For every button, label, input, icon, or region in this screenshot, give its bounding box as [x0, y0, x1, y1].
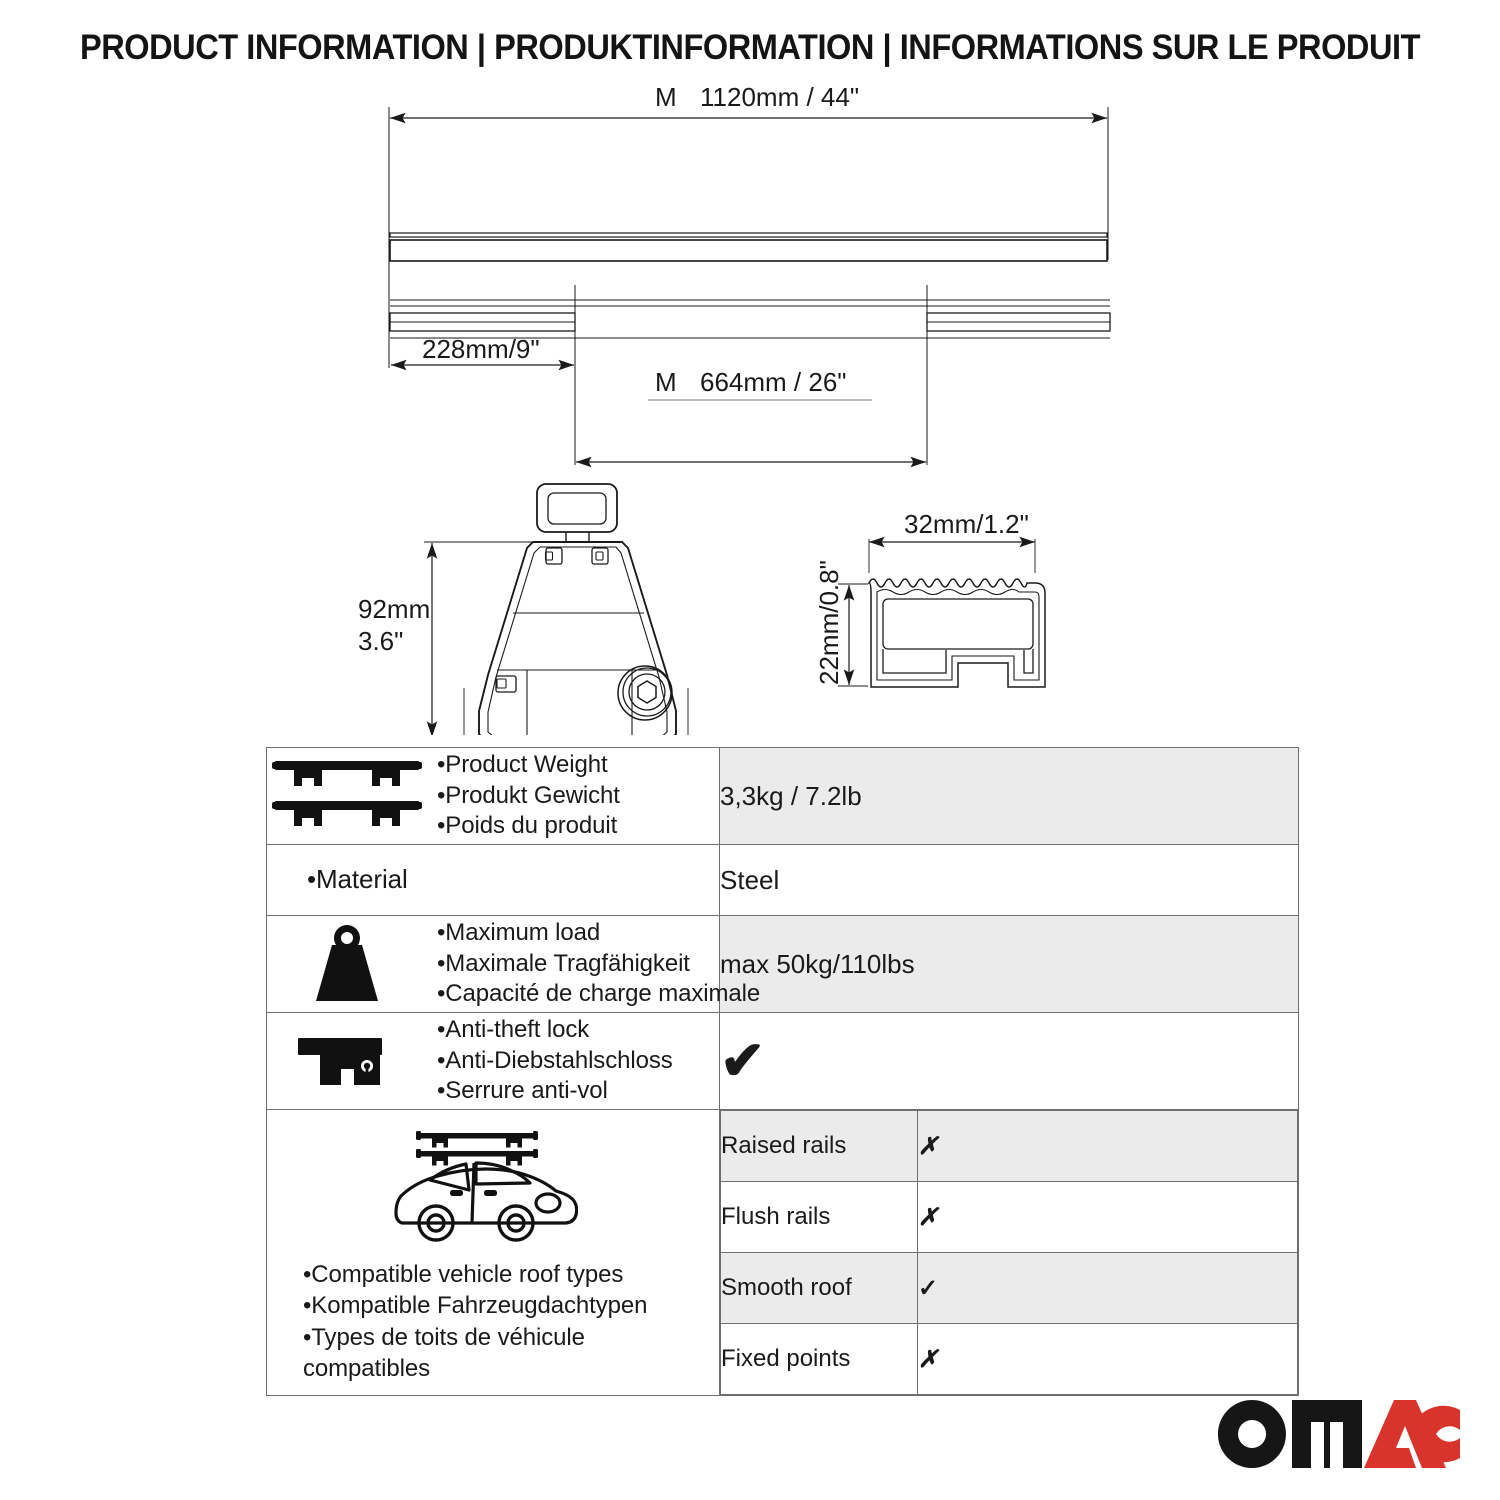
roof-option-mark: ✗ — [918, 1324, 1298, 1395]
dim-foot-spacing-value: 664mm / 26" — [700, 367, 847, 397]
specification-table: •Product Weight •Produkt Gewicht •Poids … — [266, 747, 1299, 1396]
page-title: PRODUCT INFORMATION | PRODUKTINFORMATION… — [53, 28, 1448, 68]
label-cell-roof-compatibility: •Compatible vehicle roof types •Kompatib… — [267, 1110, 720, 1396]
logo-letter-m — [1292, 1400, 1362, 1468]
label-line: •Produkt Gewicht — [437, 781, 620, 812]
dim-foot-spacing-prefix: M — [655, 367, 677, 397]
roof-option-raised-rails: Raised rails ✗ — [721, 1111, 1298, 1182]
roof-type-grid: Raised rails ✗ Flush rails ✗ Smooth roof… — [720, 1110, 1298, 1395]
label-line: •Kompatible Fahrzeugdachtypen — [303, 1290, 719, 1321]
label-line: compatibles — [303, 1353, 719, 1384]
roof-option-name: Fixed points — [721, 1324, 918, 1395]
table-row-anti-theft-lock: •Anti-theft lock •Anti-Diebstahlschloss … — [267, 1013, 1299, 1110]
roof-option-name: Smooth roof — [721, 1253, 918, 1324]
label-cell-material: •Material — [267, 845, 720, 916]
car-with-roofrack-icon — [267, 1121, 719, 1247]
dim-end-offset: 228mm/9" — [422, 334, 540, 364]
roof-option-name: Raised rails — [721, 1111, 918, 1182]
dim-profile-height: 22mm/0.8" — [814, 560, 844, 685]
label-line: •Types de toits de véhicule — [303, 1322, 719, 1353]
table-row-material: •Material Steel — [267, 845, 1299, 916]
crossbars-icon — [267, 757, 427, 835]
label-line: •Material — [307, 863, 408, 896]
label-line: •Maximale Tragfähigkeit — [437, 949, 760, 980]
roof-option-fixed-points: Fixed points ✗ — [721, 1324, 1298, 1395]
label-line: •Poids du produit — [437, 811, 620, 842]
roof-type-options: Raised rails ✗ Flush rails ✗ Smooth roof… — [720, 1110, 1299, 1396]
table-row-product-weight: •Product Weight •Produkt Gewicht •Poids … — [267, 748, 1299, 845]
dim-profile-width: 32mm/1.2" — [904, 509, 1029, 539]
label-line: •Serrure anti-vol — [437, 1076, 673, 1107]
label-cell-product-weight: •Product Weight •Produkt Gewicht •Poids … — [267, 748, 720, 845]
label-line: •Anti-theft lock — [437, 1015, 673, 1046]
label-text-group: •Material — [267, 863, 408, 896]
roof-option-mark: ✓ — [918, 1253, 1298, 1324]
roof-option-name: Flush rails — [721, 1182, 918, 1253]
label-text-group: •Anti-theft lock •Anti-Diebstahlschloss … — [437, 1015, 673, 1107]
label-line: •Capacité de charge maximale — [437, 979, 760, 1010]
omac-logo — [1216, 1398, 1460, 1470]
label-line: •Product Weight — [437, 750, 620, 781]
roof-option-mark: ✗ — [918, 1111, 1298, 1182]
roof-option-mark: ✗ — [918, 1182, 1298, 1253]
dim-foot-height-2: 3.6" — [358, 626, 403, 656]
dim-bar-length-prefix: M — [655, 82, 677, 112]
label-text-group: •Maximum load •Maximale Tragfähigkeit •C… — [437, 918, 760, 1010]
label-cell-maximum-load: •Maximum load •Maximale Tragfähigkeit •C… — [267, 916, 720, 1013]
dim-foot-height-1: 92mm — [358, 594, 430, 624]
table-row-maximum-load: •Maximum load •Maximale Tragfähigkeit •C… — [267, 916, 1299, 1013]
roof-option-flush-rails: Flush rails ✗ — [721, 1182, 1298, 1253]
value-maximum-load: max 50kg/110lbs — [720, 916, 1299, 1013]
label-cell-anti-theft-lock: •Anti-theft lock •Anti-Diebstahlschloss … — [267, 1013, 720, 1110]
technical-drawing: M 1120mm / 44" 228mm/9" M 664mm / 26" 92… — [0, 75, 1500, 735]
table-row-roof-compatibility: •Compatible vehicle roof types •Kompatib… — [267, 1110, 1299, 1396]
value-material: Steel — [720, 845, 1299, 916]
value-anti-theft-lock: ✔ — [720, 1013, 1299, 1110]
label-line: •Maximum load — [437, 918, 760, 949]
weight-icon — [267, 923, 427, 1005]
dim-bar-length-value: 1120mm / 44" — [700, 82, 859, 112]
value-product-weight: 3,3kg / 7.2lb — [720, 748, 1299, 845]
label-line: •Anti-Diebstahlschloss — [437, 1046, 673, 1077]
logo-letter-o — [1218, 1400, 1286, 1468]
label-text-group: •Product Weight •Produkt Gewicht •Poids … — [437, 750, 620, 842]
label-line: •Compatible vehicle roof types — [303, 1259, 719, 1290]
label-text-group: •Compatible vehicle roof types •Kompatib… — [267, 1247, 719, 1384]
lock-icon — [267, 1028, 427, 1094]
roof-option-smooth-roof: Smooth roof ✓ — [721, 1253, 1298, 1324]
